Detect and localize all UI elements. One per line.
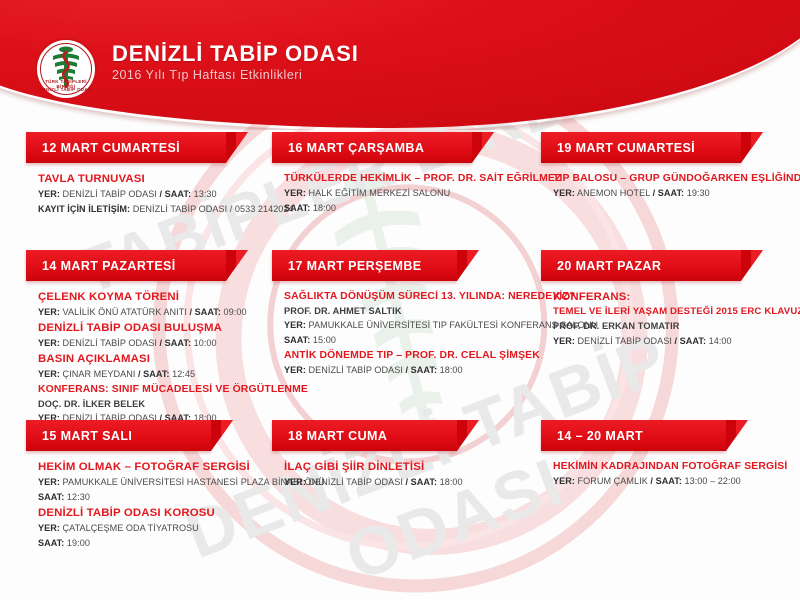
day-banner[interactable]: 19 MART CUMARTESİ <box>541 132 741 163</box>
day-card: 14 – 20 MARTHEKİMİN KADRAJINDAN FOTOĞRAF… <box>541 420 796 490</box>
page-header: TÜRK TABİPLERİ BİRLİĞİ DENİZLİ TABİP ODA… <box>0 0 800 130</box>
detail-value: 15:00 <box>310 335 336 345</box>
event-title: HEKİM OLMAK – FOTOĞRAF SERGİSİ <box>38 460 281 475</box>
banner-arrow-highlight <box>751 250 763 267</box>
detail-label: YER: <box>38 307 60 317</box>
detail-label-secondary: / SAAT: <box>406 477 438 487</box>
day-card: 14 MART PAZARTESİÇELENK KOYMA TÖRENİYER:… <box>26 250 281 427</box>
day-card-body: TIP BALOSU – GRUP GÜNDOĞARKEN EŞLİĞİNDEY… <box>541 163 796 201</box>
event-title: İLAÇ GİBİ ŞİİR DİNLETİSİ <box>284 460 527 475</box>
day-card: 20 MART PAZARKONFERANS:TEMEL VE İLERİ YA… <box>541 250 796 349</box>
day-banner[interactable]: 16 MART ÇARŞAMBA <box>272 132 472 163</box>
event-detail: YER: DENİZLİ TABİP ODASI / SAAT: 13:30 <box>38 188 281 202</box>
event-detail: YER: DENİZLİ TABİP ODASI / SAAT: 18:00 <box>284 476 527 490</box>
detail-value-secondary: 13:30 <box>191 189 217 199</box>
logo-arc-bottom-text: DENİZLİ TABİP ODASI <box>35 87 97 92</box>
day-card: 18 MART CUMAİLAÇ GİBİ ŞİİR DİNLETİSİYER:… <box>272 420 527 491</box>
detail-label: SAAT: <box>38 492 64 502</box>
day-banner[interactable]: 18 MART CUMA <box>272 420 457 451</box>
event-speaker: DOÇ. DR. İLKER BELEK <box>38 398 281 411</box>
detail-value-secondary: 14:00 <box>706 336 732 346</box>
detail-label: YER: <box>284 320 306 330</box>
detail-value: DENİZLİ TABİP ODASI <box>60 338 160 348</box>
banner-arrow-highlight <box>482 132 494 149</box>
event-detail: YER: ÇINAR MEYDANI / SAAT: 12:45 <box>38 368 281 382</box>
event-detail: YER: DENİZLİ TABİP ODASI / SAAT: 14:00 <box>553 335 796 349</box>
day-banner-label: 20 MART PAZAR <box>541 259 661 273</box>
detail-label: SAAT: <box>284 203 310 213</box>
detail-value: 19:00 <box>64 538 90 548</box>
event-detail: SAAT: 19:00 <box>38 537 281 551</box>
detail-value-secondary: 10:00 <box>191 338 217 348</box>
banner-arrow-highlight <box>236 132 248 149</box>
poster-page: TABİPLER BİRLİĞİ DENİZLİ TABİP ODASI TÜR… <box>0 0 800 600</box>
detail-label-secondary: / SAAT: <box>406 365 438 375</box>
detail-label-secondary: / SAAT: <box>189 307 221 317</box>
detail-value: DENİZLİ TABİP ODASI / 0533 2142024 <box>130 204 294 214</box>
detail-label-secondary: / SAAT: <box>675 336 707 346</box>
day-banner[interactable]: 17 MART PERŞEMBE <box>272 250 457 281</box>
detail-label: YER: <box>284 365 306 375</box>
detail-label-secondary: / SAAT: <box>160 338 192 348</box>
event-speaker: PROF. DR. AHMET SALTIK <box>284 305 527 318</box>
day-card-body: KONFERANS:TEMEL VE İLERİ YAŞAM DESTEĞİ 2… <box>541 281 796 348</box>
detail-value-secondary: 12:45 <box>170 369 196 379</box>
event-title: HEKİMİN KADRAJINDAN FOTOĞRAF SERGİSİ <box>553 460 796 474</box>
event-title: ANTİK DÖNEMDE TIP – PROF. DR. CELAL ŞİMŞ… <box>284 349 527 363</box>
detail-label-secondary: / SAAT: <box>653 188 685 198</box>
event-detail: KAYIT İÇİN İLETİŞİM: DENİZLİ TABİP ODASI… <box>38 203 281 217</box>
detail-value-secondary: 18:00 <box>437 365 463 375</box>
day-banner[interactable]: 14 – 20 MART <box>541 420 726 451</box>
day-banner[interactable]: 12 MART CUMARTESİ <box>26 132 226 163</box>
detail-label-secondary: / SAAT: <box>650 476 682 486</box>
detail-label: YER: <box>38 338 60 348</box>
page-subtitle: 2016 Yılı Tıp Haftası Etkinlikleri <box>112 68 359 82</box>
detail-value: DENİZLİ TABİP ODASI <box>60 189 160 199</box>
detail-label: KAYIT İÇİN İLETİŞİM: <box>38 204 130 214</box>
banner-arrow-highlight <box>751 132 763 149</box>
day-card-body: SAĞLIKTA DÖNÜŞÜM SÜRECİ 13. YILINDA: NER… <box>272 281 527 377</box>
day-card-body: HEKİM OLMAK – FOTOĞRAF SERGİSİYER: PAMUK… <box>26 451 281 550</box>
day-banner[interactable]: 20 MART PAZAR <box>541 250 741 281</box>
brand-block: DENİZLİ TABİP ODASI 2016 Yılı Tıp Haftas… <box>112 42 359 82</box>
event-detail: SAAT: 15:00 <box>284 334 527 348</box>
event-detail: YER: ANEMON HOTEL / SAAT: 19:30 <box>553 187 796 201</box>
day-card-body: HEKİMİN KADRAJINDAN FOTOĞRAF SERGİSİYER:… <box>541 451 796 489</box>
detail-label: YER: <box>38 369 60 379</box>
event-detail: YER: ÇATALÇEŞME ODA TİYATROSU <box>38 522 281 536</box>
day-banner-label: 15 MART SALI <box>26 429 132 443</box>
day-banner-label: 19 MART CUMARTESİ <box>541 141 695 155</box>
event-speaker: PROF. DR. ERKAN TOMATIR <box>553 320 796 333</box>
day-card-body: ÇELENK KOYMA TÖRENİYER: VALİLİK ÖNÜ ATAT… <box>26 281 281 426</box>
banner-arrow-highlight <box>736 420 748 437</box>
detail-value: ANEMON HOTEL <box>575 188 653 198</box>
event-title: TEMEL VE İLERİ YAŞAM DESTEĞİ 2015 ERC KL… <box>553 306 796 319</box>
day-banner-label: 18 MART CUMA <box>272 429 387 443</box>
event-detail: YER: DENİZLİ TABİP ODASI / SAAT: 18:00 <box>284 364 527 378</box>
day-card: 15 MART SALIHEKİM OLMAK – FOTOĞRAF SERGİ… <box>26 420 281 551</box>
organization-logo: TÜRK TABİPLERİ BİRLİĞİ DENİZLİ TABİP ODA… <box>35 38 97 100</box>
event-title: DENİZLİ TABİP ODASI BULUŞMA <box>38 321 281 336</box>
day-card: 17 MART PERŞEMBESAĞLIKTA DÖNÜŞÜM SÜRECİ … <box>272 250 527 378</box>
detail-value: ÇINAR MEYDANI <box>60 369 138 379</box>
detail-value: DENİZLİ TABİP ODASI <box>575 336 675 346</box>
detail-value: HALK EĞİTİM MERKEZİ SALONU <box>306 188 450 198</box>
detail-label: YER: <box>553 476 575 486</box>
detail-label: YER: <box>38 523 60 533</box>
event-title: BASIN AÇIKLAMASI <box>38 352 281 367</box>
day-banner-label: 14 – 20 MART <box>541 429 643 443</box>
banner-arrow-highlight <box>236 250 248 267</box>
detail-value-secondary: 13:00 – 22:00 <box>682 476 741 486</box>
day-card-body: İLAÇ GİBİ ŞİİR DİNLETİSİYER: DENİZLİ TAB… <box>272 451 527 490</box>
day-banner-label: 12 MART CUMARTESİ <box>26 141 180 155</box>
event-title: DENİZLİ TABİP ODASI KOROSU <box>38 506 281 521</box>
event-title: TÜRKÜLERDE HEKİMLİK – PROF. DR. SAİT EĞR… <box>284 172 527 186</box>
detail-label: YER: <box>284 188 306 198</box>
day-banner[interactable]: 15 MART SALI <box>26 420 211 451</box>
banner-arrow-highlight <box>467 420 479 437</box>
event-title: KONFERANS: SINIF MÜCADELESİ VE ÖRGÜTLENM… <box>38 383 281 397</box>
day-card-body: TÜRKÜLERDE HEKİMLİK – PROF. DR. SAİT EĞR… <box>272 163 527 215</box>
event-detail: YER: FORUM ÇAMLIK / SAAT: 13:00 – 22:00 <box>553 475 796 489</box>
day-banner-label: 16 MART ÇARŞAMBA <box>272 141 424 155</box>
day-card-body: TAVLA TURNUVASIYER: DENİZLİ TABİP ODASI … <box>26 163 281 217</box>
detail-value: DENİZLİ TABİP ODASI <box>306 477 406 487</box>
event-detail: YER: VALİLİK ÖNÜ ATATÜRK ANITI / SAAT: 0… <box>38 306 281 320</box>
day-banner-label: 17 MART PERŞEMBE <box>272 259 422 273</box>
event-title: TIP BALOSU – GRUP GÜNDOĞARKEN EŞLİĞİNDE <box>553 172 796 186</box>
day-banner-label: 14 MART PAZARTESİ <box>26 259 176 273</box>
day-banner[interactable]: 14 MART PAZARTESİ <box>26 250 226 281</box>
event-detail: SAAT: 12:30 <box>38 491 281 505</box>
event-detail: SAAT: 18:00 <box>284 202 527 216</box>
detail-value-secondary: 18:00 <box>437 477 463 487</box>
detail-value: DENİZLİ TABİP ODASI <box>306 365 406 375</box>
page-title: DENİZLİ TABİP ODASI <box>112 42 359 65</box>
banner-arrow-highlight <box>221 420 233 437</box>
event-title: KONFERANS: <box>553 290 796 305</box>
event-title: TAVLA TURNUVASI <box>38 172 281 187</box>
day-card: 16 MART ÇARŞAMBATÜRKÜLERDE HEKİMLİK – PR… <box>272 132 527 216</box>
detail-value: ÇATALÇEŞME ODA TİYATROSU <box>60 523 199 533</box>
detail-label-secondary: / SAAT: <box>160 189 192 199</box>
banner-arrow-highlight <box>467 250 479 267</box>
detail-label: YER: <box>38 189 60 199</box>
detail-label: YER: <box>553 336 575 346</box>
event-title: ÇELENK KOYMA TÖRENİ <box>38 290 281 305</box>
detail-label: SAAT: <box>38 538 64 548</box>
day-card: 12 MART CUMARTESİTAVLA TURNUVASIYER: DEN… <box>26 132 281 218</box>
detail-value: 12:30 <box>64 492 90 502</box>
event-detail: YER: PAMUKKALE ÜNİVERSİTESİ TIP FAKÜLTES… <box>284 319 527 333</box>
detail-value-secondary: 19:30 <box>684 188 710 198</box>
detail-label: YER: <box>38 477 60 487</box>
detail-value: FORUM ÇAMLIK <box>575 476 650 486</box>
detail-label: YER: <box>553 188 575 198</box>
detail-label: YER: <box>284 477 306 487</box>
event-title: SAĞLIKTA DÖNÜŞÜM SÜRECİ 13. YILINDA: NER… <box>284 290 527 304</box>
detail-value-secondary: 09:00 <box>221 307 247 317</box>
event-detail: YER: HALK EĞİTİM MERKEZİ SALONU <box>284 187 527 201</box>
event-detail: YER: PAMUKKALE ÜNİVERSİTESİ HASTANESİ PL… <box>38 476 281 490</box>
detail-label: SAAT: <box>284 335 310 345</box>
event-detail: YER: DENİZLİ TABİP ODASI / SAAT: 10:00 <box>38 337 281 351</box>
day-card: 19 MART CUMARTESİTIP BALOSU – GRUP GÜNDO… <box>541 132 796 202</box>
detail-value: 18:00 <box>310 203 336 213</box>
detail-value: VALİLİK ÖNÜ ATATÜRK ANITI <box>60 307 190 317</box>
detail-label-secondary: / SAAT: <box>138 369 170 379</box>
